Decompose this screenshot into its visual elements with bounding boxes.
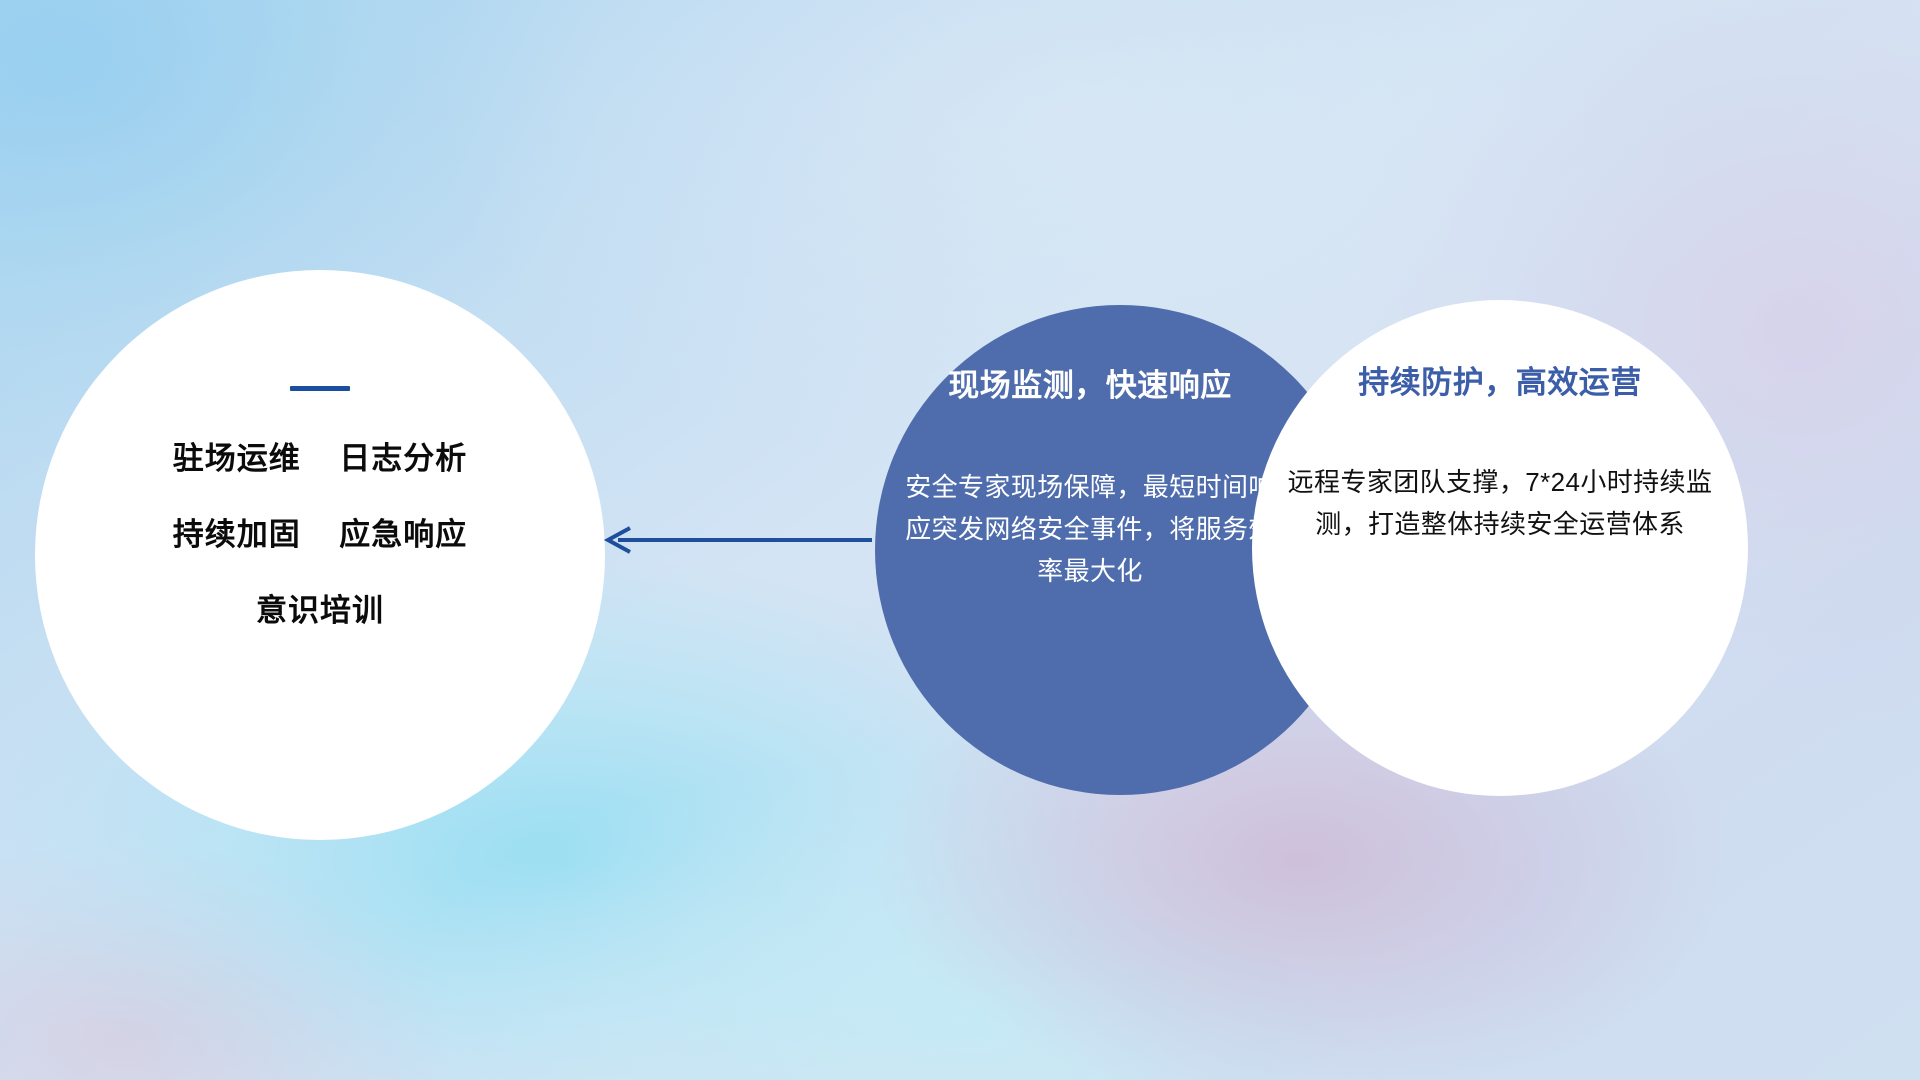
- right-operations-circle[interactable]: 持续防护，高效运营 远程专家团队支撑，7*24小时持续监测，打造整体持续安全运营…: [1252, 300, 1748, 796]
- right-circle-title: 持续防护，高效运营: [1252, 364, 1748, 401]
- left-circle-content: 驻场运维 日志分析 持续加固 应急响应 意识培训: [35, 386, 605, 626]
- middle-circle-content: 现场监测，快速响应 安全专家现场保障，最短时间响应突发网络安全事件，将服务效率最…: [875, 367, 1305, 593]
- slide-canvas: 驻场运维 日志分析 持续加固 应急响应 意识培训 现场监测，快速响应 安全专家现…: [0, 0, 1920, 1080]
- blue-divider-dash: [290, 386, 350, 391]
- right-circle-content: 持续防护，高效运营 远程专家团队支撑，7*24小时持续监测，打造整体持续安全运营…: [1252, 364, 1748, 545]
- left-capability-line-1: 驻场运维 日志分析: [35, 443, 605, 474]
- left-capability-line-2: 持续加固 应急响应: [35, 519, 605, 550]
- middle-circle-title: 现场监测，快速响应: [875, 367, 1305, 404]
- right-circle-body: 远程专家团队支撑，7*24小时持续监测，打造整体持续安全运营体系: [1252, 461, 1748, 545]
- connector-arrow-left: [596, 516, 876, 564]
- left-capability-circle[interactable]: 驻场运维 日志分析 持续加固 应急响应 意识培训: [35, 270, 605, 840]
- middle-circle-body: 安全专家现场保障，最短时间响应突发网络安全事件，将服务效率最大化: [875, 466, 1305, 592]
- left-capability-line-3: 意识培训: [35, 595, 605, 626]
